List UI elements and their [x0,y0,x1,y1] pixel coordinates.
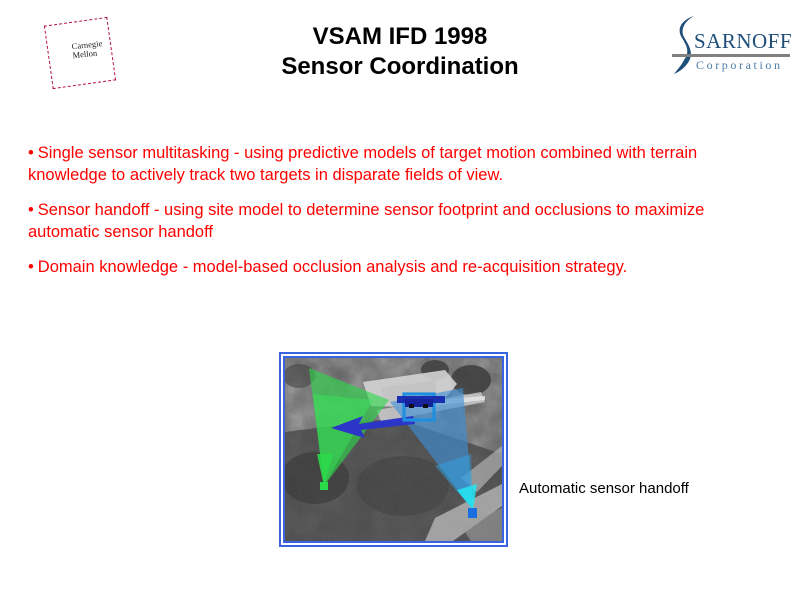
list-item: •Domain knowledge - model-based occlusio… [28,256,772,278]
bullet-text: Single sensor multitasking - using predi… [28,144,697,184]
page-title-line-2: Sensor Coordination [180,52,620,82]
bullet-text: Domain knowledge - model-based occlusion… [38,258,627,276]
aerial-imagery [285,358,502,541]
list-item: •Sensor handoff - using site model to de… [28,199,772,243]
green-sensor-platform-marker [320,482,328,490]
slide-header: Carnegie Mellon VSAM IFD 1998 Sensor Coo… [0,0,800,110]
page-title-line-1: VSAM IFD 1998 [180,22,620,52]
figure-block [279,352,508,547]
bullet-marker: • [28,201,34,219]
list-item: •Single sensor multitasking - using pred… [28,142,772,186]
blue-sensor-platform-marker [468,508,477,518]
carnegie-mellon-logo-text: Carnegie Mellon [71,36,135,60]
figure-caption: Automatic sensor handoff [519,480,689,498]
carnegie-mellon-logo: Carnegie Mellon [46,19,122,85]
sarnoff-subword: Corporation [696,58,783,72]
figure-inner-frame [283,356,504,543]
bullet-marker: • [28,144,34,162]
bullet-list: •Single sensor multitasking - using pred… [28,142,772,291]
bullet-marker: • [28,258,34,276]
sarnoff-divider-rule [672,54,790,57]
page-title: VSAM IFD 1998 Sensor Coordination [180,22,620,82]
bullet-text: Sensor handoff - using site model to det… [28,201,704,241]
sarnoff-wordmark: SARNOFF [694,30,792,52]
sarnoff-corporation-logo: SARNOFF Corporation [672,14,790,76]
